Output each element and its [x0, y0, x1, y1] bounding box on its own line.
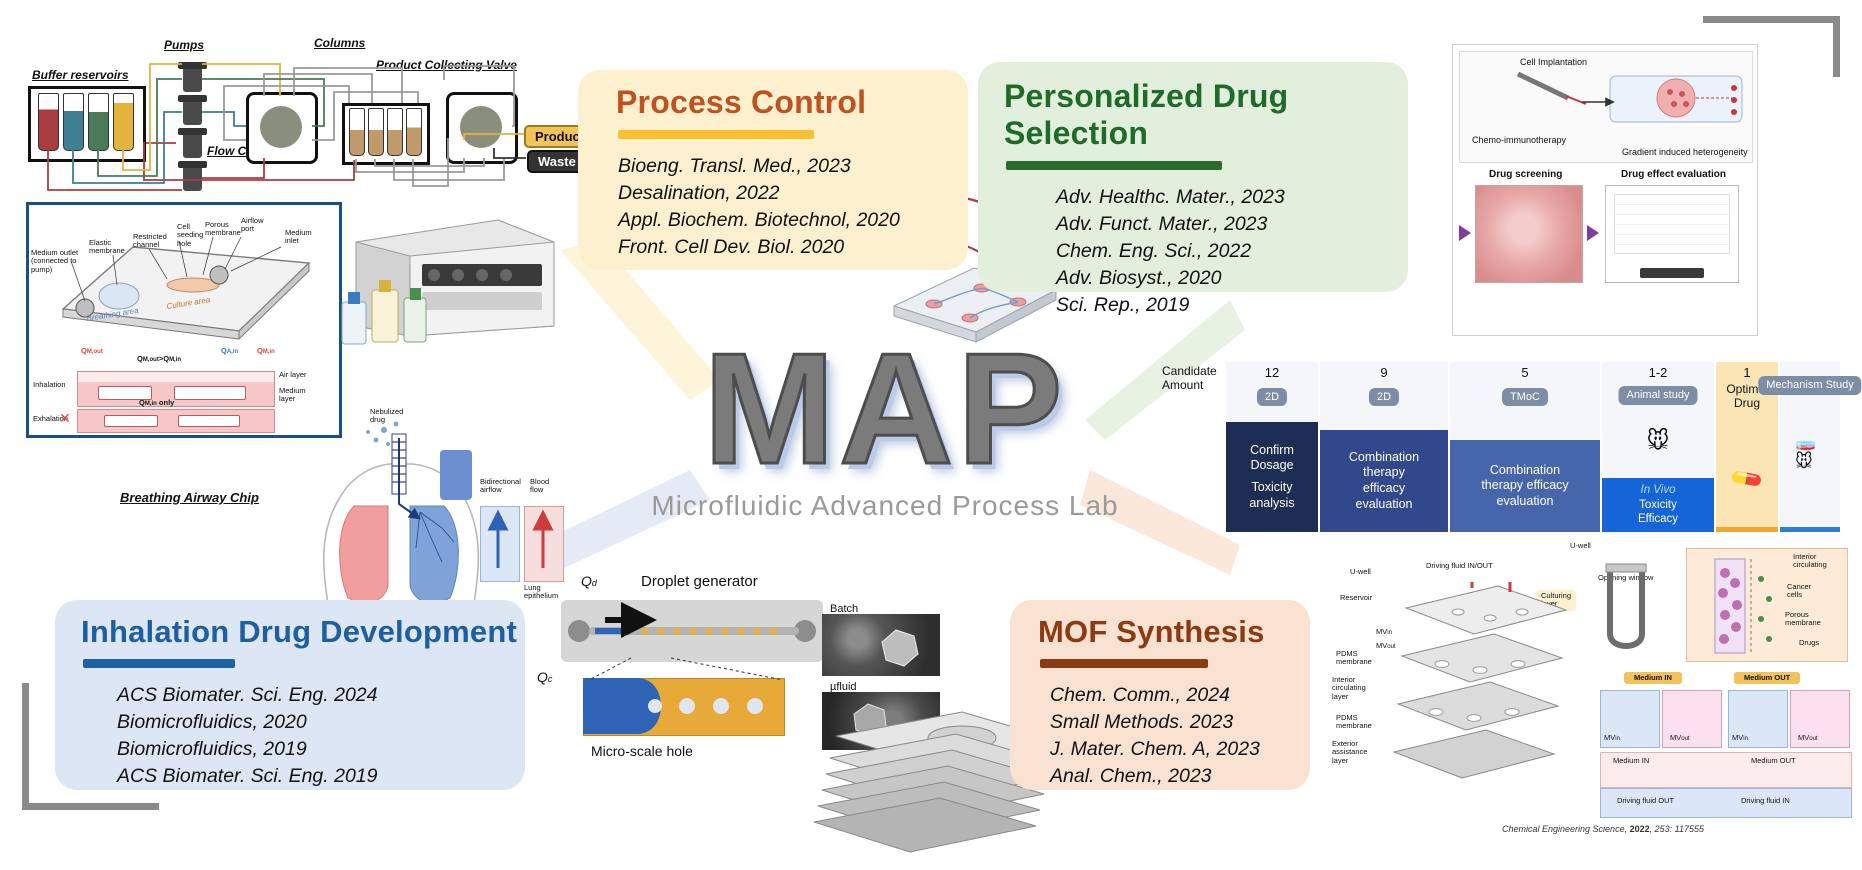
- label-medium-in-bar: Medium IN: [1624, 672, 1682, 684]
- reference-item: Biomicrofluidics, 2020: [117, 709, 525, 736]
- label-interior-circulating: Interiorcirculating: [1793, 553, 1827, 570]
- label-driving-fluid-io: Driving fluid IN/OUT: [1426, 562, 1493, 570]
- callout-cell-seeding-hole: Cellseedinghole: [177, 223, 203, 248]
- droplet-generator-group: Qd Droplet generator Qc Micro-scale hole: [545, 596, 845, 786]
- reference-item: Front. Cell Dev. Biol. 2020: [618, 234, 968, 261]
- pipeline-stage: 1-2 Animal study 🐭 In Vivo Toxicity Effi…: [1602, 362, 1714, 532]
- chromatography-tubing: [24, 30, 569, 200]
- label-drug-effect-evaluation: Drug effect evaluation: [1621, 169, 1726, 180]
- stage-chip: 2D: [1369, 388, 1399, 406]
- card-references: ACS Biomater. Sci. Eng. 2024 Biomicroflu…: [55, 682, 525, 790]
- droplet-generator-title: Droplet generator: [641, 574, 758, 591]
- card-rule: [83, 659, 235, 668]
- pipeline-stage: 5 TMoC Combination therapy efficacy eval…: [1450, 362, 1600, 532]
- label-qd: Qd: [581, 574, 597, 589]
- stage-fill: Combination therapy efficacy evaluation: [1320, 430, 1448, 532]
- label-u-well: U-well: [1350, 568, 1371, 576]
- label-medium-layer: Mediumlayer: [279, 387, 306, 404]
- card-title: Process Control: [578, 70, 968, 121]
- card-personalized-drug-selection[interactable]: Personalized Drug Selection Adv. Healthc…: [978, 62, 1408, 292]
- label-drugs: Drugs: [1799, 639, 1819, 647]
- pipeline-axis-label: CandidateAmount: [1162, 364, 1220, 393]
- reference-item: Desalination, 2022: [618, 180, 968, 207]
- reference-item: Adv. Biosyst., 2020: [1056, 265, 1408, 292]
- label-mv-out-cs: MVout: [1670, 734, 1690, 743]
- exhalation-channel: [77, 409, 275, 433]
- reference-item: Small Methods. 2023: [1050, 709, 1310, 736]
- stage-chip: 2D: [1257, 388, 1287, 406]
- mouse-icon: 🐭: [1647, 428, 1670, 454]
- cell-schematic-inset: Interiorcirculating Cancercells Porousme…: [1686, 548, 1848, 662]
- card-inhalation-drug-development[interactable]: Inhalation Drug Development ACS Biomater…: [55, 600, 525, 790]
- card-title: MOF Synthesis: [1010, 600, 1310, 650]
- reference-item: Appl. Biochem. Biotechnol, 2020: [618, 207, 968, 234]
- stage-chip: Animal study: [1619, 386, 1698, 405]
- reference-item: Bioeng. Transl. Med., 2023: [618, 153, 968, 180]
- medium-flow-band: Medium IN Medium OUT: [1600, 752, 1852, 788]
- pipeline-stage: 12 2D Confirm Dosage Toxicity analysis: [1226, 362, 1318, 532]
- card-title: Personalized Drug Selection: [978, 62, 1408, 152]
- label-medium-in-flow: Medium IN: [1613, 757, 1649, 765]
- card-process-control[interactable]: Process Control Bioeng. Transl. Med., 20…: [578, 70, 968, 270]
- flow-qm-in: QM,in: [257, 347, 275, 356]
- reference-item: Anal. Chem., 2023: [1050, 763, 1310, 790]
- label-pdms-membrane-1: PDMSmembrane: [1336, 650, 1372, 667]
- label-mv-out-cs2: MVout: [1798, 734, 1818, 743]
- label-reservoir: Reservoir: [1340, 594, 1372, 602]
- card-references: Adv. Healthc. Mater., 2023 Adv. Funct. M…: [978, 184, 1408, 319]
- reference-item: Adv. Funct. Mater., 2023: [1056, 211, 1408, 238]
- logo-acronym: MAP: [650, 330, 1120, 488]
- reference-item: ACS Biomater. Sci. Eng. 2019: [117, 763, 525, 790]
- logo-tagline: Microfluidic Advanced Process Lab: [650, 490, 1120, 522]
- card-rule: [1006, 161, 1222, 170]
- phase-inhalation: Inhalation: [33, 381, 66, 389]
- label-blood-flow: Bloodflow: [530, 478, 549, 495]
- reference-item: Chem. Eng. Sci., 2022: [1056, 238, 1408, 265]
- tumor-screening-panel: Cell Implantation Chemo-immunotherapy Gr…: [1452, 44, 1758, 336]
- stage-fill: Confirm Dosage Toxicity analysis: [1226, 422, 1318, 532]
- label-drug-screening: Drug screening: [1489, 169, 1562, 180]
- label-cancer-cells: Cancercells: [1787, 583, 1811, 600]
- map-logo-block: MAP Microfluidic Advanced Process Lab: [650, 330, 1120, 540]
- card-title: Inhalation Drug Development: [55, 600, 525, 650]
- callout-medium-inlet: Mediuminlet: [285, 229, 312, 246]
- exhalation-cross-mark: ✕: [59, 411, 71, 426]
- label-mv-in-cs2: MVin: [1732, 734, 1748, 743]
- card-rule: [618, 130, 814, 139]
- card-references: Chem. Comm., 2024 Small Methods. 2023 J.…: [1010, 682, 1310, 790]
- label-medium-out-flow: Medium OUT: [1751, 757, 1796, 765]
- stage-count: 1-2: [1602, 362, 1714, 380]
- stage-fill: Combination therapy efficacy evaluation: [1450, 440, 1600, 532]
- label-porous-membrane: Porousmembrane: [1785, 611, 1821, 628]
- stage-count: 9: [1320, 362, 1448, 380]
- label-pdms-membrane-2: PDMSmembrane: [1336, 714, 1372, 731]
- card-references: Bioeng. Transl. Med., 2023 Desalination,…: [578, 153, 968, 261]
- u-well-inset: [1580, 556, 1680, 666]
- flow-qm-out: QM,out: [81, 347, 103, 356]
- organ-chip-citation: Chemical Engineering Science, 2022, 253:…: [1502, 824, 1704, 834]
- label-mv-in-cs: MVin: [1604, 734, 1620, 743]
- flow-inequality: QM,out>QM,in: [137, 355, 181, 364]
- label-interior-circulating-layer: Interiorcirculatinglayer: [1332, 676, 1366, 701]
- label-exterior-assistance-layer: Exteriorassistancelayer: [1332, 740, 1367, 765]
- stage-chip: TMoC: [1502, 388, 1548, 406]
- reference-item: Sci. Rep., 2019: [1056, 292, 1408, 319]
- label-air-layer: Air layer: [279, 371, 307, 379]
- label-driving-fluid-out: Driving fluid OUT: [1617, 797, 1674, 805]
- stage-chip: Mechanism Study: [1758, 376, 1861, 395]
- pipeline-stage: Mechanism Study 🧫🐭: [1780, 362, 1840, 532]
- card-rule: [1040, 659, 1208, 668]
- callout-porous-membrane: Porousmembrane: [205, 221, 241, 238]
- breathing-airway-chip-panel: Breathing area Culture area Medium outle…: [26, 202, 342, 438]
- card-mof-synthesis[interactable]: MOF Synthesis Chem. Comm., 2024 Small Me…: [1010, 600, 1310, 790]
- reference-item: Adv. Healthc. Mater., 2023: [1056, 184, 1408, 211]
- inhaler-device: [440, 450, 472, 500]
- label-qc: Qc: [537, 670, 552, 685]
- label-bidirectional-airflow: Bidirectionalairflow: [480, 478, 521, 495]
- reagent-bottles: [338, 268, 438, 368]
- label-nebulized-drug: Nebulizeddrug: [370, 408, 403, 425]
- exhalation-note: QM,in only: [139, 399, 174, 408]
- airflow-blood-flow-panel: Bidirectionalairflow Bloodflow Lungepith…: [480, 492, 566, 590]
- droplet-caption: Micro-scale hole: [591, 744, 693, 759]
- pipeline-stage: 9 2D Combination therapy efficacy evalua…: [1320, 362, 1448, 532]
- membrane-crosssection-grid: MVin MVout MVin MVout: [1600, 690, 1850, 750]
- stage-fill: In Vivo Toxicity Efficacy: [1602, 478, 1714, 532]
- reference-item: ACS Biomater. Sci. Eng. 2024: [117, 682, 525, 709]
- callout-restricted-channel: Restrictedchannel: [133, 233, 167, 250]
- stage-count: 5: [1450, 362, 1600, 380]
- label-u-well-top: U-well: [1570, 542, 1591, 550]
- chromatography-diagram: Buffer reservoirs Pumps Columns Product …: [24, 30, 569, 200]
- stage-count: 12: [1226, 362, 1318, 380]
- label-medium-out-bar: Medium OUT: [1734, 672, 1800, 684]
- label-driving-fluid-in: Driving fluid IN: [1741, 797, 1790, 805]
- reference-item: Chem. Comm., 2024: [1050, 682, 1310, 709]
- pill-icon: 💊: [1728, 460, 1765, 497]
- callout-elastic-membrane: Elasticmembrane: [89, 239, 125, 256]
- mechanism-icons: 🧫🐭: [1795, 432, 1825, 472]
- chip-layers-illustration: [1386, 582, 1576, 792]
- reference-item: Biomicrofluidics, 2019: [117, 736, 525, 763]
- callout-airflow-port: Airflowport: [241, 217, 264, 234]
- callout-medium-outlet: Medium outlet(connected topump): [31, 249, 78, 274]
- reference-item: J. Mater. Chem. A, 2023: [1050, 736, 1310, 763]
- inhalation-channel: [77, 371, 275, 407]
- breathing-airway-chip-title: Breathing Airway Chip: [120, 490, 259, 505]
- driving-fluid-band: Driving fluid OUT Driving fluid IN: [1600, 788, 1852, 818]
- organ-chip-exploded-diagram: U-well U-well Driving fluid IN/OUT Openi…: [1330, 540, 1850, 830]
- flow-qa-in: QA,in: [221, 347, 238, 356]
- drug-pipeline: CandidateAmount 12 2D Confirm Dosage Tox…: [1162, 362, 1840, 532]
